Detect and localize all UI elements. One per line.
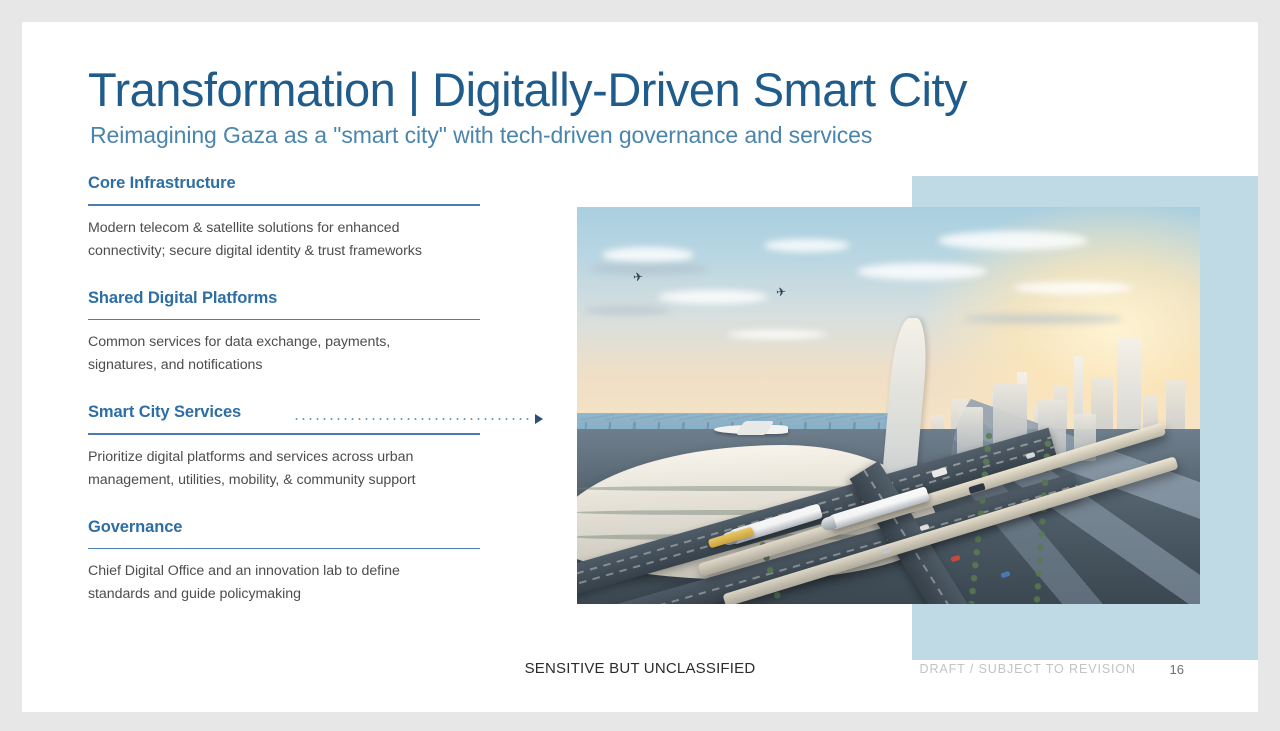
- content-sections: Core Infrastructure Modern telecom & sat…: [88, 174, 558, 606]
- section-rule: [88, 433, 480, 435]
- page-number: 16: [1170, 662, 1184, 677]
- airplane-icon: ✈: [776, 286, 787, 299]
- section-header-row: Core Infrastructure: [88, 174, 558, 202]
- spacer: [88, 492, 558, 518]
- cloud: [857, 263, 987, 280]
- section-core-infrastructure: Core Infrastructure Modern telecom & sat…: [88, 174, 558, 263]
- cloud: [589, 263, 709, 275]
- section-header-row: Governance: [88, 518, 558, 546]
- section-body: Chief Digital Office and an innovation l…: [88, 560, 558, 606]
- dotted-line: [293, 418, 533, 420]
- section-rule: [88, 548, 480, 550]
- section-heading: Shared Digital Platforms: [88, 289, 558, 308]
- section-shared-digital-platforms: Shared Digital Platforms Common services…: [88, 289, 558, 378]
- cloud: [727, 330, 827, 339]
- section-header-row: Shared Digital Platforms: [88, 289, 558, 317]
- slide-canvas: Transformation | Digitally-Driven Smart …: [0, 0, 1280, 731]
- section-heading: Governance: [88, 518, 558, 537]
- section-body: Common services for data exchange, payme…: [88, 331, 558, 377]
- cloud: [764, 239, 850, 252]
- photo-illustration: ✈ ✈: [577, 207, 1200, 604]
- page-title: Transformation | Digitally-Driven Smart …: [88, 62, 967, 117]
- section-rule: [88, 204, 480, 206]
- section-body: Prioritize digital platforms and service…: [88, 446, 558, 492]
- spacer: [88, 377, 558, 403]
- section-body: Modern telecom & satellite solutions for…: [88, 217, 558, 263]
- dotted-connector: [293, 413, 543, 425]
- draft-notice: DRAFT / SUBJECT TO REVISION: [920, 662, 1136, 676]
- section-smart-city-services: Smart City Services Prioritize digital p…: [88, 403, 558, 492]
- slide: Transformation | Digitally-Driven Smart …: [22, 22, 1258, 712]
- page-subtitle: Reimagining Gaza as a "smart city" with …: [90, 122, 872, 149]
- section-governance: Governance Chief Digital Office and an i…: [88, 518, 558, 607]
- section-rule: [88, 319, 480, 321]
- section-heading: Core Infrastructure: [88, 174, 558, 193]
- airplane-icon: ✈: [632, 270, 643, 283]
- arrow-right-icon: [535, 414, 543, 424]
- cloud: [602, 247, 694, 263]
- smart-city-photo: ✈ ✈: [577, 207, 1200, 604]
- spacer: [88, 263, 558, 289]
- section-header-row: Smart City Services: [88, 403, 558, 431]
- cloud: [938, 231, 1088, 250]
